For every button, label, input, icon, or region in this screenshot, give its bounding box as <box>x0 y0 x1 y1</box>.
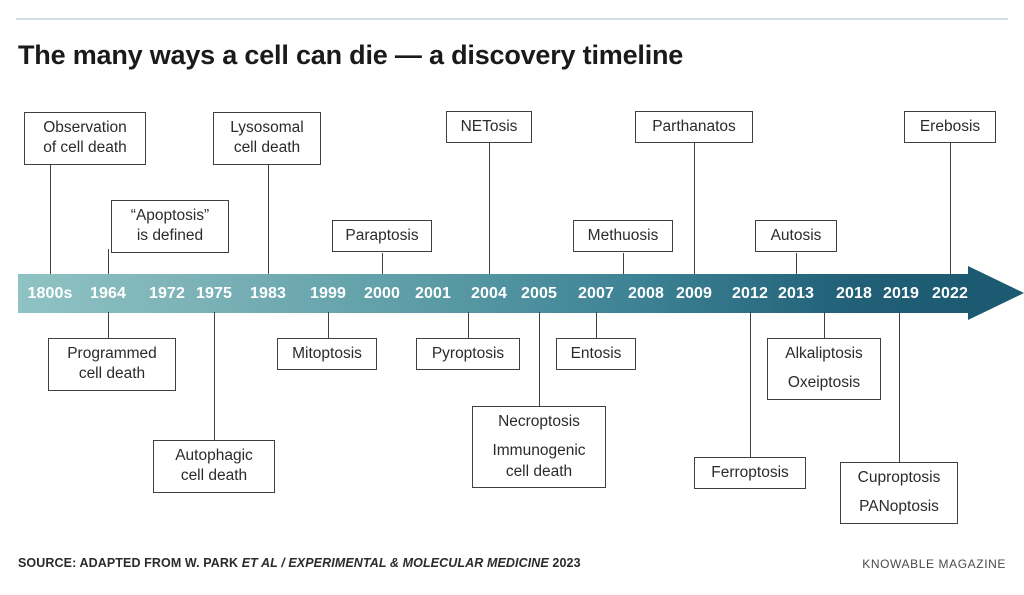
event-line: PANoptosis <box>850 497 948 517</box>
event-box-observation-of-cell-death[interactable]: Observation of cell death <box>24 112 146 165</box>
event-line: is defined <box>121 226 219 246</box>
connector-2001-above <box>382 253 383 275</box>
event-box-autosis[interactable]: Autosis <box>755 220 837 252</box>
year-tick-2008: 2008 <box>628 274 664 313</box>
connector-2013-above <box>796 253 797 275</box>
event-line: Parthanatos <box>645 117 743 137</box>
event-line: “Apoptosis” <box>121 206 219 226</box>
event-line: cell death <box>163 466 265 486</box>
connector-2019-below <box>899 312 900 462</box>
event-box-necroptosis[interactable]: Necroptosis Immunogenic cell death <box>472 406 606 488</box>
event-box-alkaliptosis[interactable]: Alkaliptosis Oxeiptosis <box>767 338 881 400</box>
source-prefix: SOURCE: ADAPTED FROM W. PARK <box>18 556 242 570</box>
event-box-autophagic-cell-death[interactable]: Autophagic cell death <box>153 440 275 493</box>
year-tick-1972: 1972 <box>149 274 185 313</box>
connector-2001-below <box>468 312 469 338</box>
event-box-programmed-cell-death[interactable]: Programmed cell death <box>48 338 176 391</box>
event-line: Ferroptosis <box>704 463 796 483</box>
connector-1975-below <box>214 312 215 440</box>
year-tick-1800s: 1800s <box>28 274 73 313</box>
event-box-mitoptosis[interactable]: Mitoptosis <box>277 338 377 370</box>
event-line: Necroptosis <box>482 412 596 432</box>
event-box-entosis[interactable]: Entosis <box>556 338 636 370</box>
connector-2018-below <box>824 312 825 338</box>
year-tick-1983: 1983 <box>250 274 286 313</box>
brand-credit: KNOWABLE MAGAZINE <box>862 557 1006 571</box>
event-line: Pyroptosis <box>426 344 510 364</box>
year-tick-2007: 2007 <box>578 274 614 313</box>
year-tick-2000: 2000 <box>364 274 400 313</box>
event-line: Observation <box>34 118 136 138</box>
connector-2004-above <box>489 143 490 275</box>
event-box-paraptosis[interactable]: Paraptosis <box>332 220 432 252</box>
year-tick-1999: 1999 <box>310 274 346 313</box>
year-tick-2018: 2018 <box>836 274 872 313</box>
connector-2005-below <box>539 312 540 406</box>
year-tick-2004: 2004 <box>471 274 507 313</box>
event-box-pyroptosis[interactable]: Pyroptosis <box>416 338 520 370</box>
event-line: Oxeiptosis <box>777 373 871 393</box>
year-tick-2019: 2019 <box>883 274 919 313</box>
event-line: Programmed <box>58 344 166 364</box>
source-credit: SOURCE: ADAPTED FROM W. PARK ET AL / EXP… <box>18 556 581 570</box>
event-box-erebosis[interactable]: Erebosis <box>904 111 996 143</box>
event-box-lysosomal-cell-death[interactable]: Lysosomal cell death <box>213 112 321 165</box>
event-line: of cell death <box>34 138 136 158</box>
event-box-netosis[interactable]: NETosis <box>446 111 532 143</box>
timeline-infographic: The many ways a cell can die — a discove… <box>0 0 1024 595</box>
event-line: Lysosomal <box>223 118 311 138</box>
year-tick-2013: 2013 <box>778 274 814 313</box>
page-title: The many ways a cell can die — a discove… <box>18 40 683 71</box>
event-line: Paraptosis <box>342 226 422 246</box>
year-tick-1975: 1975 <box>196 274 232 313</box>
connector-1964-above <box>108 249 109 275</box>
event-box-methuosis[interactable]: Methuosis <box>573 220 673 252</box>
event-line: Cuproptosis <box>850 468 948 488</box>
year-tick-1964: 1964 <box>90 274 126 313</box>
event-line: Immunogenic <box>482 441 596 461</box>
year-tick-2022: 2022 <box>932 274 968 313</box>
connector-2007-below <box>596 312 597 338</box>
connector-2022-above <box>950 143 951 275</box>
timeline-arrow-head-icon <box>968 266 1024 320</box>
source-year: 2023 <box>549 556 581 570</box>
event-box-parthanatos[interactable]: Parthanatos <box>635 111 753 143</box>
event-line: cell death <box>58 364 166 384</box>
connector-1972-above <box>268 163 269 275</box>
year-tick-2005: 2005 <box>521 274 557 313</box>
event-line: Autophagic <box>163 446 265 466</box>
connector-2009-above <box>694 143 695 275</box>
event-box-cuproptosis[interactable]: Cuproptosis PANoptosis <box>840 462 958 524</box>
connector-1999-below <box>328 312 329 338</box>
connector-2008-above <box>623 253 624 275</box>
event-box-ferroptosis[interactable]: Ferroptosis <box>694 457 806 489</box>
event-line: Entosis <box>566 344 626 364</box>
top-divider-rule <box>16 18 1008 20</box>
event-line: cell death <box>223 138 311 158</box>
connector-1964-below <box>108 312 109 338</box>
connector-1800s <box>50 163 51 275</box>
event-line: NETosis <box>456 117 522 137</box>
year-tick-2012: 2012 <box>732 274 768 313</box>
event-line: Alkaliptosis <box>777 344 871 364</box>
event-line: Autosis <box>765 226 827 246</box>
event-line: cell death <box>482 462 596 482</box>
year-tick-2009: 2009 <box>676 274 712 313</box>
year-tick-2001: 2001 <box>415 274 451 313</box>
source-publication: ET AL / EXPERIMENTAL & MOLECULAR MEDICIN… <box>242 556 549 570</box>
connector-2012-below <box>750 312 751 457</box>
event-line: Erebosis <box>914 117 986 137</box>
event-line: Mitoptosis <box>287 344 367 364</box>
event-box-apoptosis-is-defined[interactable]: “Apoptosis” is defined <box>111 200 229 253</box>
event-line: Methuosis <box>583 226 663 246</box>
